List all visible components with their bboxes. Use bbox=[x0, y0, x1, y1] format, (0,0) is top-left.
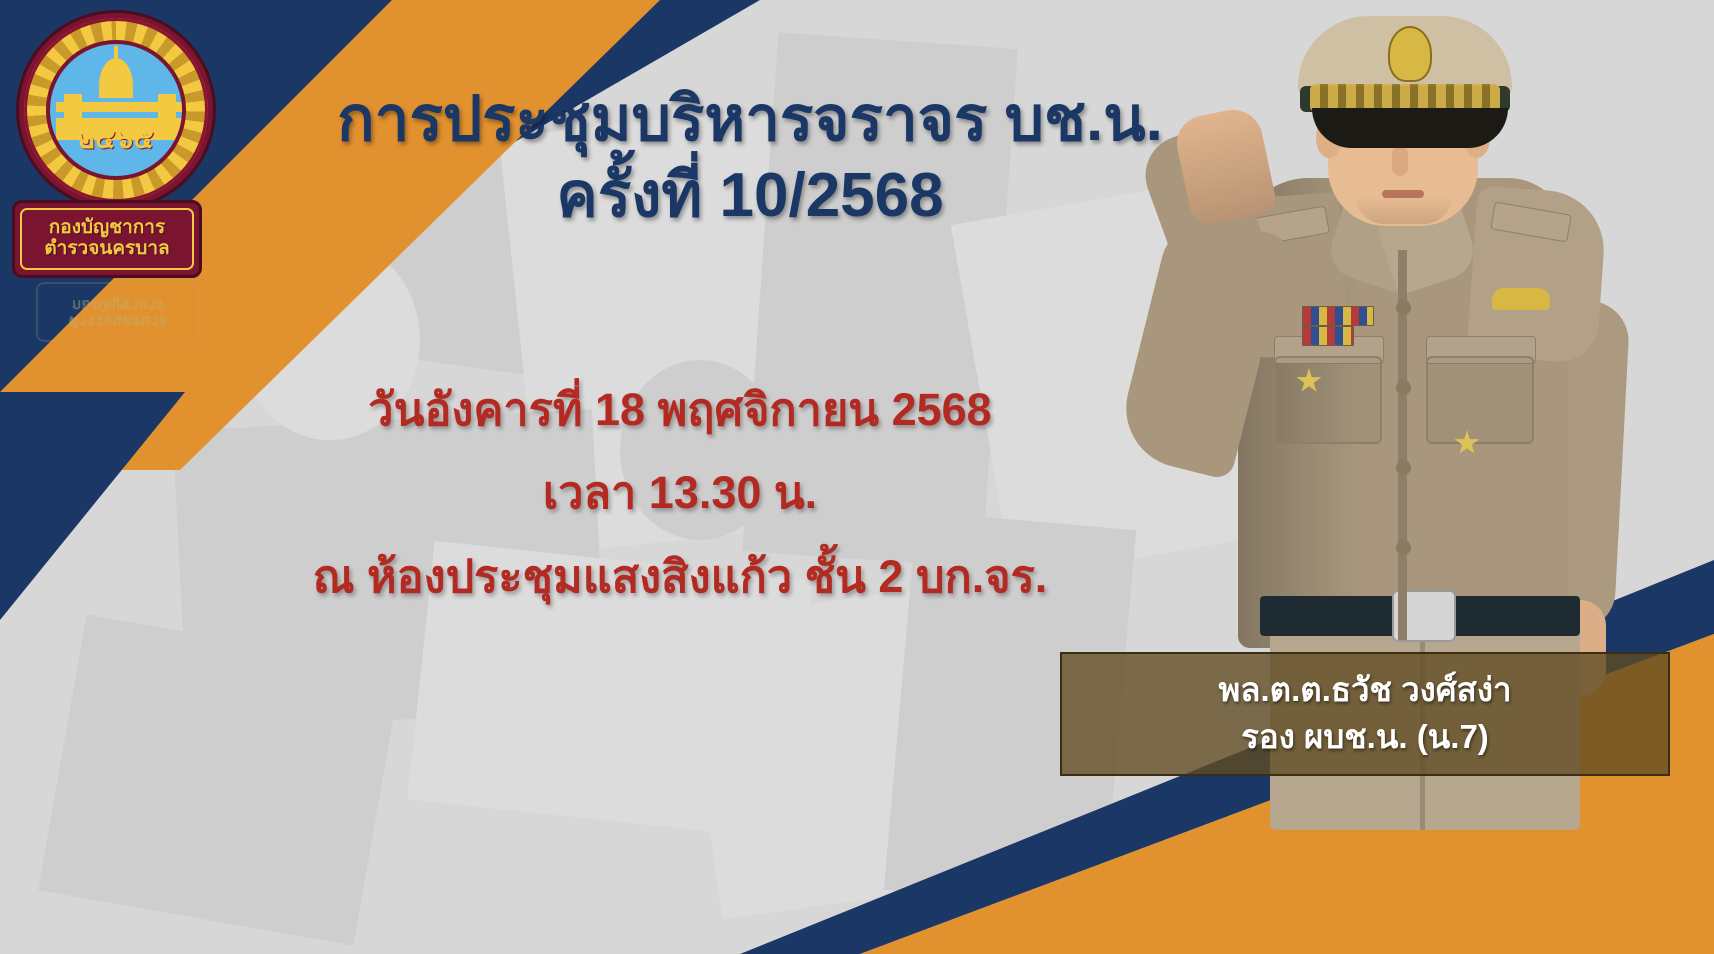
crest-year-label: ๒๔๖๕ bbox=[50, 119, 182, 160]
crest-icon: ๒๔๖๕ bbox=[16, 10, 216, 225]
slide-canvas: ๒๔๖๕ กองบัญชาการ ตำรวจนครบาล กองบัญชาการ… bbox=[0, 0, 1714, 954]
emblem-banner-line1: กองบัญชาการ bbox=[49, 218, 165, 239]
title-line-1: การประชุมบริหารจราจร บช.น. bbox=[337, 85, 1163, 154]
emblem-banner-reflection-line2: ตำรวจนครบาล bbox=[69, 312, 168, 329]
detail-line-date: วันอังคารที่ 18 พฤศจิกายน 2568 bbox=[240, 368, 1120, 451]
officer-name: พล.ต.ต.ธวัช วงศ์สง่า bbox=[1219, 667, 1512, 714]
slide-title: การประชุมบริหารจราจร บช.น. ครั้งที่ 10/2… bbox=[260, 82, 1240, 233]
detail-line-venue: ณ ห้องประชุมแสงสิงแก้ว ชั้น 2 บก.จร. bbox=[240, 535, 1120, 618]
meeting-details: วันอังคารที่ 18 พฤศจิกายน 2568 เวลา 13.3… bbox=[240, 368, 1120, 618]
emblem-banner-reflection-line1: กองบัญชาการ bbox=[72, 296, 164, 313]
detail-line-time: เวลา 13.30 น. bbox=[240, 451, 1120, 534]
officer-nameplate: พล.ต.ต.ธวัช วงศ์สง่า รอง ผบช.น. (น.7) bbox=[1060, 652, 1670, 776]
emblem-banner-reflection: กองบัญชาการ ตำรวจนครบาล bbox=[36, 282, 200, 342]
emblem-banner: กองบัญชาการ ตำรวจนครบาล bbox=[12, 200, 202, 278]
police-emblem-logo: ๒๔๖๕ กองบัญชาการ ตำรวจนครบาล กองบัญชาการ… bbox=[6, 4, 226, 304]
officer-position: รอง ผบช.น. (น.7) bbox=[1241, 714, 1489, 761]
emblem-banner-line2: ตำรวจนครบาล bbox=[44, 239, 169, 260]
parliament-building-icon: ๒๔๖๕ bbox=[46, 40, 186, 180]
title-line-2: ครั้งที่ 10/2568 bbox=[260, 158, 1240, 234]
